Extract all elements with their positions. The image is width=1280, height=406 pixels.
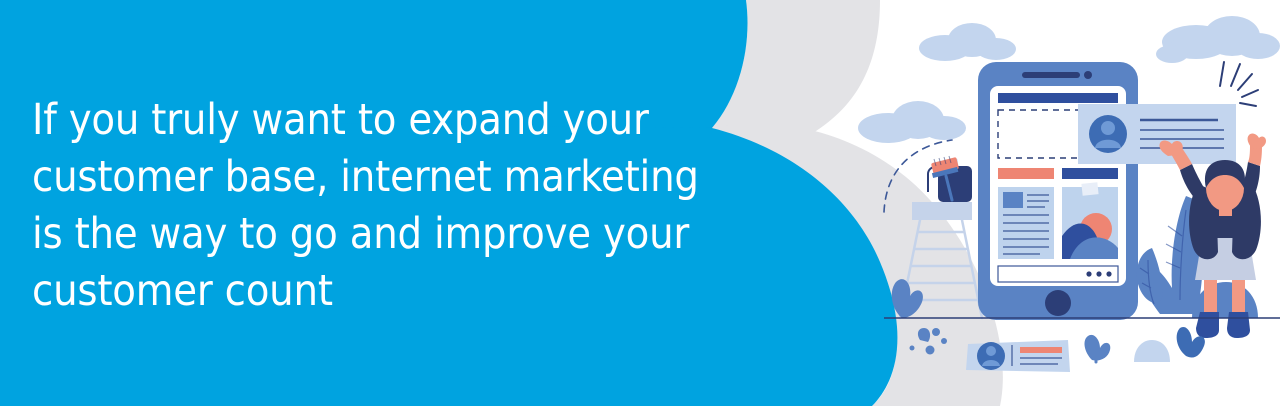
screen-photo-card	[1062, 182, 1118, 259]
screen-text-card	[998, 187, 1054, 259]
plant-small-center-icon	[1085, 335, 1111, 362]
cloud-left-icon	[858, 101, 966, 143]
cloud-top-icon	[919, 23, 1016, 61]
screen-header-bar	[998, 93, 1118, 103]
cloud-right-icon	[1156, 16, 1280, 63]
neck	[1219, 206, 1232, 216]
page-headline: If you truly want to expand your custome…	[32, 92, 722, 320]
screen-footer-dots	[1086, 271, 1111, 276]
profile-card-ground	[966, 340, 1070, 372]
rock-dome-icon	[1134, 340, 1170, 362]
boot-right	[1227, 312, 1250, 338]
screen-navy-bar	[1062, 168, 1118, 179]
plant-small-left-icon	[892, 279, 923, 318]
tablet-speaker	[1022, 72, 1080, 78]
tablet-home-button	[1045, 290, 1071, 316]
screen-coral-bar	[998, 168, 1054, 179]
boot-left	[1196, 312, 1219, 338]
tablet-camera	[1084, 71, 1092, 79]
splatter-dots	[910, 328, 948, 355]
sparkle-burst-icon	[1220, 62, 1258, 106]
profile-card-floating	[1078, 104, 1236, 164]
marketing-banner: If you truly want to expand your custome…	[0, 0, 1280, 406]
tablet-device	[978, 62, 1138, 320]
